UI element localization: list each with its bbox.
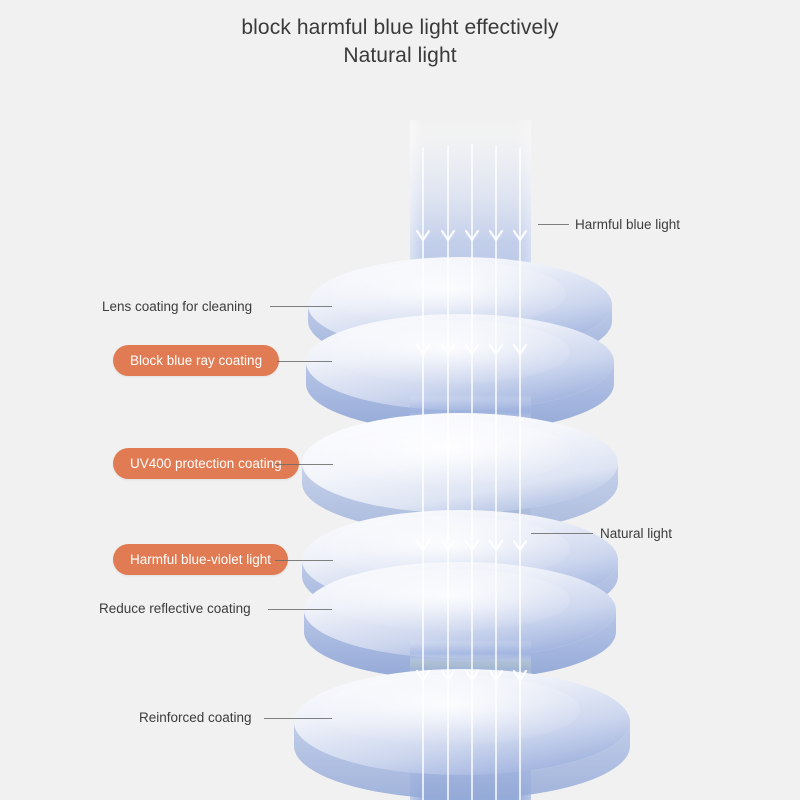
pill-uv400-protection-coating[interactable]: UV400 protection coating xyxy=(113,448,299,479)
pill-block-blue-ray-coating[interactable]: Block blue ray coating xyxy=(113,345,279,376)
infographic-canvas: block harmful blue light effectively Nat… xyxy=(0,0,800,800)
leader-line-reduce-reflective-coating xyxy=(268,609,332,610)
pill-harmful-blue-violet-light[interactable]: Harmful blue-violet light xyxy=(113,544,288,575)
leader-line-lens-coating-for-cleaning xyxy=(270,306,332,307)
label-reinforced-coating: Reinforced coating xyxy=(139,710,252,725)
leader-line-harmful-blue-light xyxy=(538,224,569,225)
disc-reinforced-coating xyxy=(294,669,630,799)
leader-line-harmful-blue-violet-light xyxy=(275,560,333,561)
leader-line-block-blue-ray-coating xyxy=(277,361,332,362)
leader-line-natural-light xyxy=(531,533,593,534)
leader-line-uv400-protection-coating xyxy=(275,464,333,465)
label-natural-light: Natural light xyxy=(600,526,672,541)
leader-line-reinforced-coating xyxy=(264,718,332,719)
lens-stack-illustration xyxy=(0,0,800,800)
label-reduce-reflective-coating: Reduce reflective coating xyxy=(99,601,251,616)
label-harmful-blue-light: Harmful blue light xyxy=(575,217,680,232)
label-lens-coating-for-cleaning: Lens coating for cleaning xyxy=(102,299,252,314)
